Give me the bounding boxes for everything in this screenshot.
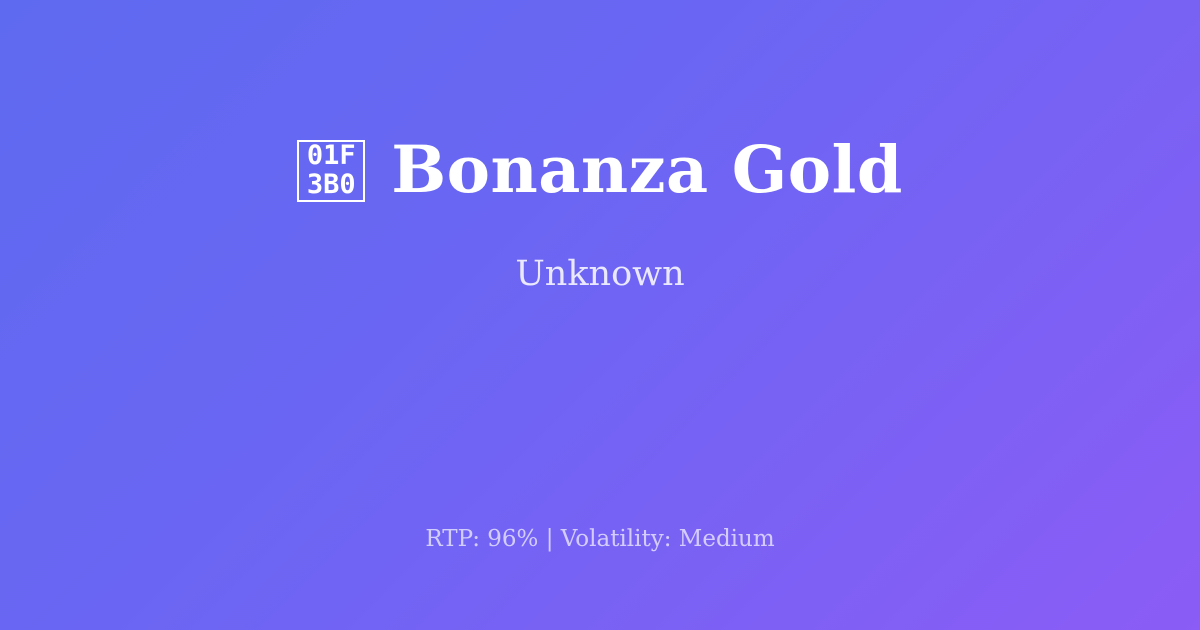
slot-machine-tofu-icon: 01F 3B0 [297,140,365,202]
game-stats-line: RTP: 96% | Volatility: Medium [0,528,1200,551]
title-line: 01F 3B0 Bonanza Gold [297,138,903,203]
subtitle: Unknown [515,257,684,292]
tofu-codepoint-bottom: 3B0 [307,171,356,199]
page-title: Bonanza Gold [391,138,903,203]
tofu-codepoint-top: 01F [307,142,356,170]
share-card: 01F 3B0 Bonanza Gold Unknown RTP: 96% | … [0,0,1200,630]
card-header: 01F 3B0 Bonanza Gold Unknown [0,0,1200,430]
